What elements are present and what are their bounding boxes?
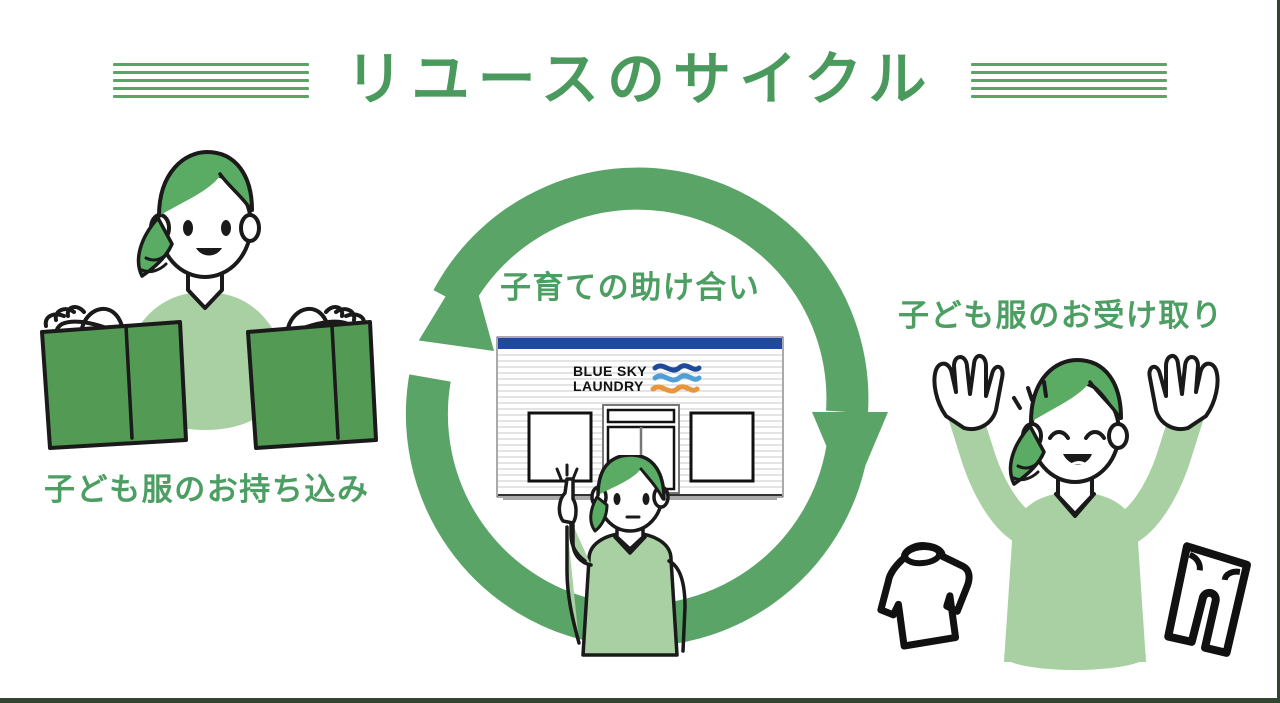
- shop-roof-band: [498, 338, 782, 349]
- woman-with-shopping-bags-illustration: [30, 140, 380, 480]
- shirt-icon: [870, 540, 980, 655]
- title-row: リユースのサイクル: [0, 40, 1280, 120]
- staff-pointing-up-illustration: [545, 455, 715, 660]
- decorative-lines-left-icon: [113, 60, 309, 100]
- reuse-cycle-infographic: リユースのサイクル 子ども服のお持ち込み 子育ての助け合い 子ども服のお受け取り: [0, 0, 1280, 703]
- page-title: リユースのサイクル: [345, 51, 934, 109]
- shop-sign-line1: BLUE SKY: [573, 363, 647, 379]
- decorative-lines-right-icon: [971, 60, 1167, 100]
- step-label-receive: 子ども服のお受け取り: [898, 300, 1224, 331]
- shop-sign-line2: LAUNDRY: [573, 378, 644, 394]
- pants-icon: [1158, 538, 1263, 658]
- step-label-mutual-help: 子育ての助け合い: [500, 272, 760, 303]
